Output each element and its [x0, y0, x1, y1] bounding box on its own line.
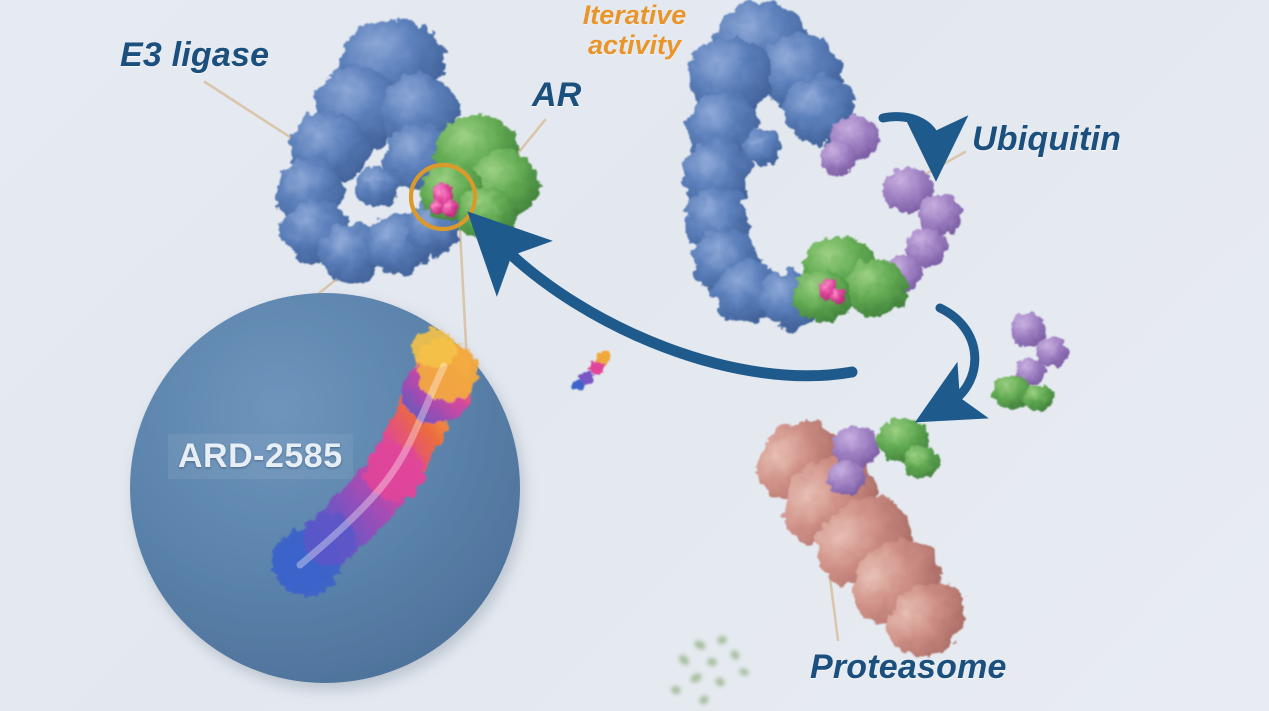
proteasome-substrate-ar	[877, 418, 939, 478]
iterative-recycle-arrow	[500, 244, 852, 376]
degrader-molecule-right	[819, 280, 845, 304]
iterative-line-1: Iterative	[0, 0, 1269, 30]
ard-2585-leader-upper	[288, 196, 441, 318]
ar-structure	[420, 115, 539, 239]
ar-structure-right	[792, 236, 908, 322]
degrader-molecule-bound	[430, 183, 458, 217]
e3-ligase-leader	[205, 82, 330, 163]
molecular-graphics-layer	[0, 0, 1269, 711]
inset-disc	[130, 293, 520, 683]
proteasome-leader	[830, 578, 838, 640]
label-ard-2585: ARD-2585	[168, 434, 353, 479]
label-e3-ligase: E3 ligase	[120, 36, 269, 75]
process-arrows	[500, 117, 975, 404]
proteasome-substrate-ubiquitin	[827, 426, 879, 496]
label-ar: AR	[532, 76, 582, 115]
released-degrader-molecule	[572, 351, 612, 390]
ubiquitin-on-ligase	[820, 116, 879, 175]
ar-leader	[462, 120, 545, 222]
degrader-highlight-ring	[411, 165, 475, 229]
label-proteasome: Proteasome	[810, 648, 1007, 687]
ubiquitin-transfer-arrow	[883, 117, 936, 144]
ard-2585-inset	[130, 293, 520, 683]
peptide-fragments	[670, 635, 750, 706]
label-ubiquitin: Ubiquitin	[972, 120, 1121, 159]
leader-lines	[205, 82, 965, 640]
right-ubiquitinated-complex	[682, 2, 1068, 411]
ard-2585-leader-lower	[460, 230, 470, 420]
detached-ubiquitin-ar	[992, 313, 1068, 411]
ubiquitin-leader	[906, 152, 965, 185]
figure-canvas: E3 ligase AR Ubiquitin Proteasome Iterat…	[0, 0, 1269, 711]
proteasome-delivery-arrow	[940, 308, 975, 404]
ubiquitin-chain	[882, 167, 962, 293]
